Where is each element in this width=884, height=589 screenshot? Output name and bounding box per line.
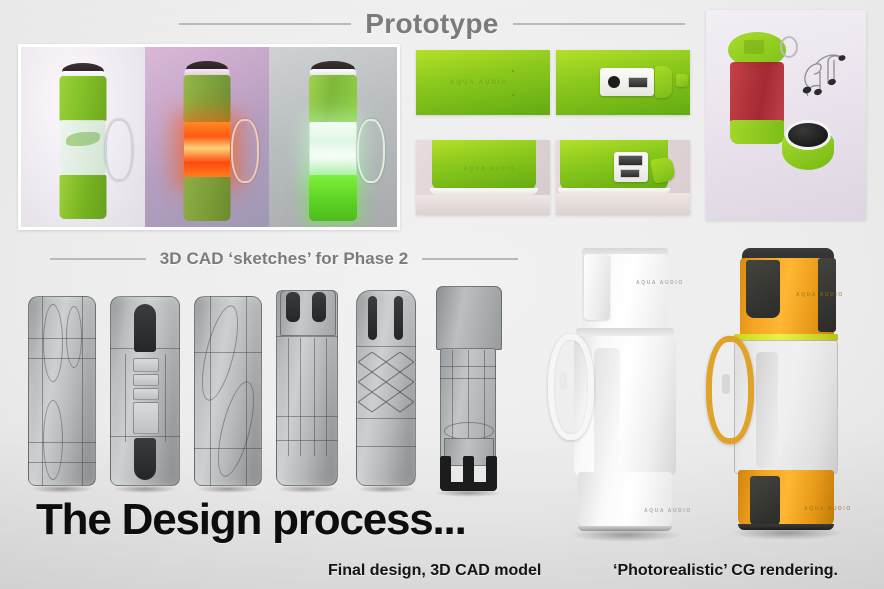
green-sleeve-top: [60, 76, 107, 121]
header-rule-left: [179, 23, 351, 25]
photo-music-bottle: [706, 10, 866, 220]
section-title-cad-sketches: 3D CAD ‘sketches’ for Phase 2: [160, 249, 409, 269]
emboss-logo-text: AQUA AUDIO: [464, 166, 516, 172]
carabiner-clip-icon: [105, 119, 133, 181]
sketch-line: [300, 338, 301, 456]
render-logo-mark: AQUA AUDIO: [796, 292, 844, 298]
white-base: [578, 472, 672, 530]
model-logo-mark: AQUA AUDIO: [636, 280, 684, 286]
carabiner-clip-icon: [706, 336, 754, 444]
table-surface: [556, 193, 690, 215]
cad-sketch-4: [276, 290, 338, 486]
sketch-shadow: [278, 485, 335, 493]
sketch-line: [125, 354, 126, 442]
sketch-line: [356, 346, 416, 347]
sketch-shadow: [113, 485, 177, 493]
sketch-oval-panel: [43, 304, 63, 382]
red-led-glow-body: [184, 122, 230, 180]
sketch-line: [314, 338, 315, 456]
base-rim: [430, 188, 538, 195]
sketch-shadow: [358, 485, 413, 493]
emboss-dot: [512, 70, 514, 72]
sketch-vent-slot: [286, 292, 300, 322]
photo-detail-logo-top: AQUA AUDIO: [416, 50, 550, 115]
orange-base-dark-panel: [750, 476, 780, 526]
sketch-line: [356, 446, 416, 447]
cad-sketch-1: [28, 296, 96, 486]
sketch-line: [165, 354, 166, 442]
header-rule-right: [513, 23, 685, 25]
section-header-prototype: Prototype: [152, 8, 712, 40]
audio-jack-icon: [608, 76, 620, 88]
sketch-oval-panel: [66, 306, 82, 368]
photo-inner: AQUA AUDIO: [416, 50, 550, 115]
sketch-oval-panel: [43, 400, 63, 480]
photo-inner: [556, 50, 690, 115]
sketch-flared-top: [436, 286, 502, 350]
sketch-diamond-grip-pattern: [358, 352, 414, 414]
clear-body: [61, 120, 106, 178]
photo-detail-ports-base: [556, 140, 690, 215]
photo-led-off: [21, 47, 145, 227]
green-base-ring: [730, 120, 784, 144]
sketch-line: [42, 296, 43, 486]
green-sleeve-top: [184, 75, 231, 123]
base-logo-mark: AQUA AUDIO: [804, 506, 852, 512]
photo-prototype-led-strip: [18, 44, 400, 230]
cad-sketch-5: [356, 290, 416, 486]
sketch-window-slot: [133, 374, 159, 386]
photo-led-green: [269, 47, 397, 227]
photo-inner: [556, 140, 690, 215]
sketch-line: [276, 416, 338, 417]
orange-dark-clip-panel: [746, 260, 780, 318]
usb-port-icon: [628, 77, 648, 88]
sketch-line: [246, 296, 247, 486]
cap-grip-detail: [744, 40, 764, 54]
micro-usb-port-icon: [620, 169, 640, 178]
cad-sketch-3: [194, 296, 262, 486]
carabiner-clip-icon: [357, 119, 385, 183]
sketch-line: [210, 296, 211, 486]
carabiner-clip-icon: [231, 119, 259, 183]
model-shadow: [730, 526, 844, 540]
white-led-glow-body: [310, 122, 357, 178]
sketch-window-slot: [133, 388, 159, 400]
section-title-prototype: Prototype: [365, 8, 498, 40]
sketch-line: [276, 440, 338, 441]
sketch-shadow: [31, 485, 94, 493]
photo-detail-base: AQUA AUDIO: [416, 140, 550, 215]
sketch-shadow: [197, 485, 260, 493]
sketch-line: [326, 338, 327, 456]
green-base-surface: [432, 140, 536, 190]
page-title: The Design process...: [36, 495, 466, 545]
caption-cg-render: ‘Photorealistic’ CG rendering.: [613, 562, 838, 580]
music-notes-icon: [790, 40, 852, 112]
base-logo-mark: AQUA AUDIO: [644, 508, 692, 514]
sketch-line: [276, 336, 338, 337]
section-header-cad-sketches: 3D CAD ‘sketches’ for Phase 2: [38, 249, 530, 269]
cad-sketch-6: [432, 286, 504, 492]
presentation-slide: Prototype: [0, 0, 884, 589]
photo-detail-ports-top: [556, 50, 690, 115]
bottle-body-red-liquid: [730, 62, 784, 124]
sketch-dark-slot: [134, 304, 156, 352]
sketch-line: [82, 296, 83, 486]
carabiner-gate: [722, 374, 730, 394]
carabiner-clip-icon: [548, 334, 594, 440]
white-top-clip: [584, 254, 610, 320]
carabiner-gate: [560, 372, 567, 390]
sketch-line: [110, 436, 180, 437]
emboss-dot: [512, 94, 514, 96]
model-shadow: [570, 528, 682, 542]
usb-port-icon: [618, 155, 643, 166]
table-surface: [416, 195, 550, 215]
green-sleeve-top: [309, 75, 357, 123]
speaker-grille: [785, 120, 831, 150]
white-body-groove: [594, 348, 620, 476]
sketch-line: [356, 418, 416, 419]
sketch-dark-slot: [134, 438, 156, 480]
header-rule-left: [50, 258, 146, 260]
flap-tab: [676, 74, 688, 87]
sketch-vent-slot: [394, 296, 403, 340]
sketch-window-slot: [133, 402, 159, 434]
cad-sketch-row: [18, 282, 528, 494]
photo-inner: AQUA AUDIO: [416, 140, 550, 215]
sketch-vent-slot: [312, 292, 326, 322]
emboss-logo-text: AQUA AUDIO: [450, 80, 508, 86]
photo-inner: [706, 10, 866, 220]
caption-cad-model: Final design, 3D CAD model: [328, 562, 541, 580]
glass-highlight: [756, 352, 778, 468]
model-white-cad: AQUA AUDIO AQUA AUDIO: [540, 240, 700, 550]
photo-led-red: [145, 47, 269, 227]
cad-sketch-2: [110, 296, 180, 486]
sketch-vent-slot: [368, 296, 377, 340]
green-sleeve-bottom: [60, 175, 107, 219]
green-sleeve-bottom: [184, 177, 231, 221]
sketch-window-slot: [133, 358, 159, 372]
model-orange-cg-render: AQUA AUDIO AQUA AUDIO: [700, 240, 875, 550]
green-led-glow-base: [309, 175, 357, 221]
header-rule-right: [422, 258, 518, 260]
rubber-port-flap: [655, 66, 672, 98]
sketch-line: [28, 462, 96, 463]
sketch-body: [28, 296, 96, 486]
sketch-line: [288, 338, 289, 456]
